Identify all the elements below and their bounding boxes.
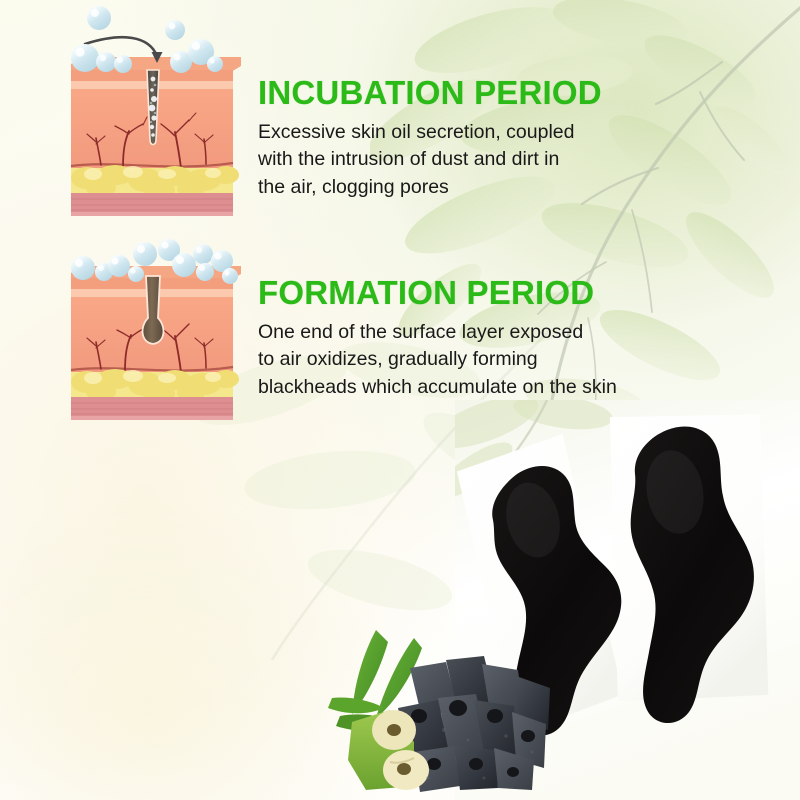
formation-body-line-2: to air oxidizes, gradually forming [258,346,708,374]
formation-body: One end of the surface layer exposed to … [258,319,708,402]
incubation-body-line-2: with the intrusion of dust and dirt in [258,146,678,174]
skin-diagram-formation [63,232,248,432]
formation-body-line-1: One end of the surface layer exposed [258,319,708,347]
infographic-page: INCUBATION PERIOD Excessive skin oil sec… [0,0,800,800]
incubation-body-line-3: the air, clogging pores [258,174,678,202]
formation-body-line-3: blackheads which accumulate on the skin [258,374,708,402]
formation-heading: FORMATION PERIOD [258,276,708,310]
section-incubation-text: INCUBATION PERIOD Excessive skin oil sec… [258,76,678,202]
incubation-heading: INCUBATION PERIOD [258,76,678,110]
section-formation-text: FORMATION PERIOD One end of the surface … [258,276,708,402]
skin-diagram-incubation [63,0,248,230]
ingredient-bamboo-charcoal [318,612,578,800]
incubation-body: Excessive skin oil secretion, coupled wi… [258,119,678,202]
incubation-body-line-1: Excessive skin oil secretion, coupled [258,119,678,147]
